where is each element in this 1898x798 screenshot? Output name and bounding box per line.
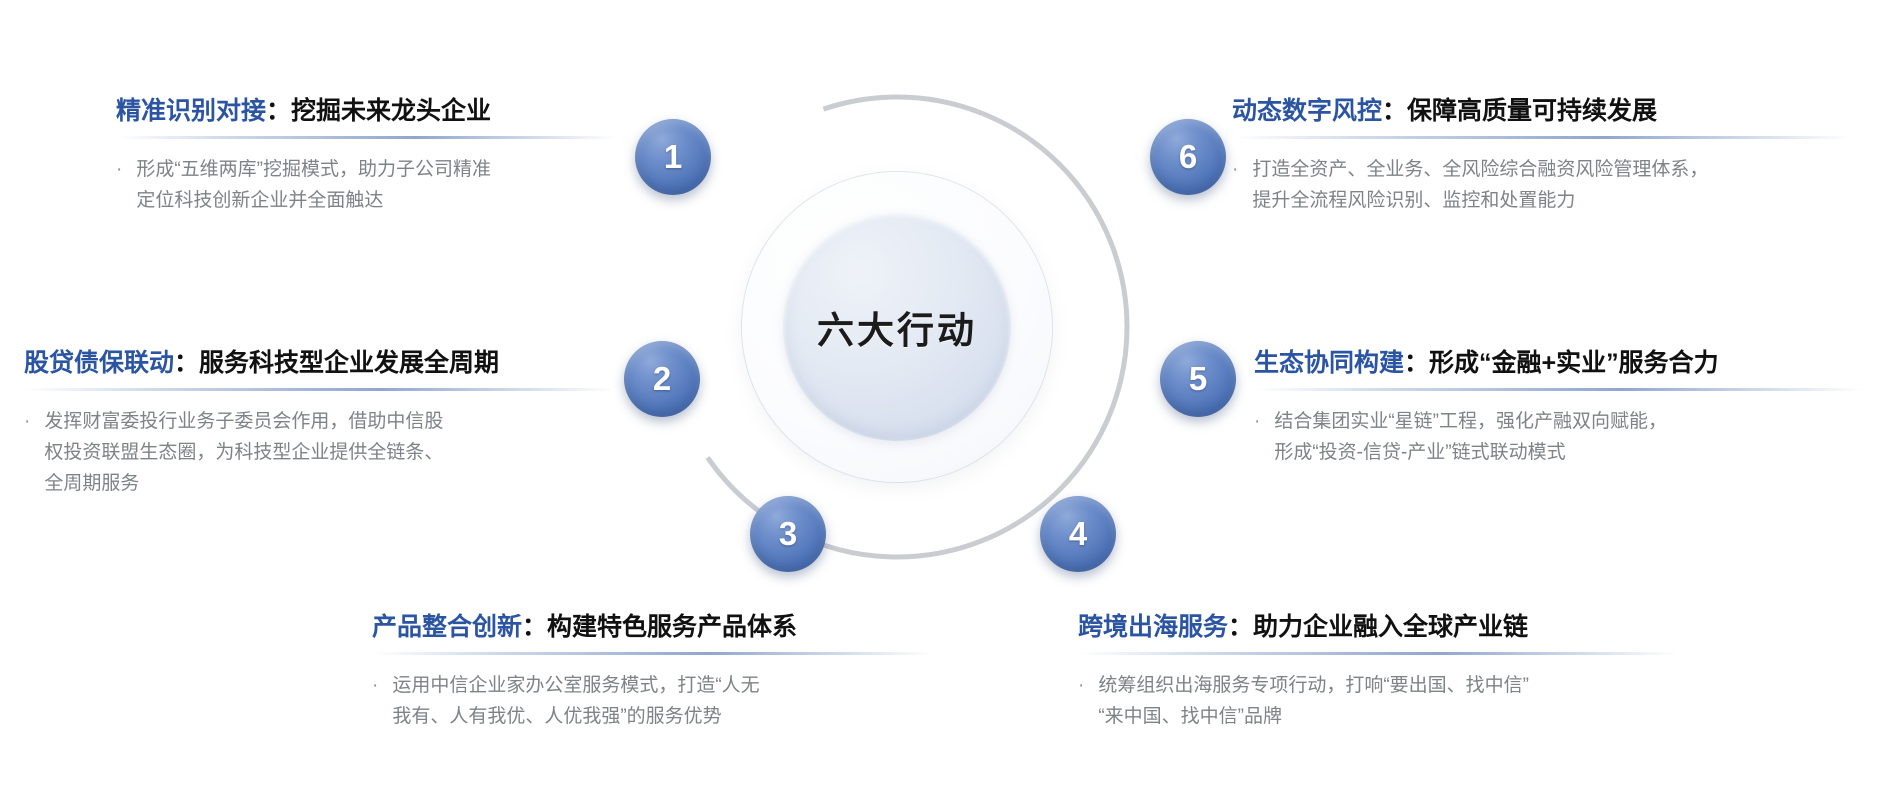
item-5-body: · 结合集团实业“星链”工程，强化产融双向赋能， 形成“投资-信贷-产业”链式联… [1254, 407, 1864, 469]
item-6-title-accent: 动态数字风控 [1232, 97, 1382, 125]
item-4-title: 跨境出海服务：助力企业融入全球产业链 [1078, 612, 1678, 643]
item-4-bullet-icon: · [1078, 671, 1084, 733]
item-1-title: 精准识别对接：挖掘未来龙头企业 [116, 96, 616, 127]
item-4-block: 跨境出海服务：助力企业融入全球产业链 · 统筹组织出海服务专项行动，打响“要出国… [1078, 612, 1678, 733]
item-6-divider [1232, 136, 1852, 139]
item-2-bullet-icon: · [24, 407, 30, 499]
node-1-number: 1 [664, 138, 682, 176]
node-4-number: 4 [1069, 515, 1087, 553]
item-1-divider [116, 136, 616, 139]
item-3-block: 产品整合创新：构建特色服务产品体系 · 运用中信企业家办公室服务模式，打造“人无… [372, 612, 932, 733]
node-6[interactable]: 6 [1150, 119, 1226, 195]
item-5-title: 生态协同构建：形成“金融+实业”服务合力 [1254, 348, 1864, 379]
item-6-bullet-icon: · [1232, 155, 1238, 217]
item-1-body-text: 形成“五维两库”挖掘模式，助力子公司精准 定位科技创新企业并全面触达 [136, 155, 491, 217]
item-3-divider [372, 652, 932, 655]
item-3-bullet-icon: · [372, 671, 378, 733]
item-6-body: · 打造全资产、全业务、全风险综合融资风险管理体系， 提升全流程风险识别、监控和… [1232, 155, 1852, 217]
item-2-divider [24, 388, 616, 391]
item-2-title-accent: 股贷债保联动 [24, 349, 174, 377]
item-5-divider [1254, 388, 1864, 391]
node-3-number: 3 [779, 515, 797, 553]
item-1-block: 精准识别对接：挖掘未来龙头企业 · 形成“五维两库”挖掘模式，助力子公司精准 定… [116, 96, 616, 217]
infographic-canvas: 六大行动 1 2 3 4 5 6 精准识别对接：挖掘未来龙头企业 · 形成“五维… [0, 0, 1898, 798]
item-2-body-text: 发挥财富委投行业务子委员会作用，借助中信股 权投资联盟生态圈，为科技型企业提供全… [44, 407, 443, 499]
item-4-body: · 统筹组织出海服务专项行动，打响“要出国、找中信” “来中国、找中信”品牌 [1078, 671, 1678, 733]
item-5-title-accent: 生态协同构建 [1254, 349, 1404, 377]
item-3-title-accent: 产品整合创新 [372, 613, 522, 641]
item-5-bullet-icon: · [1254, 407, 1260, 469]
item-2-block: 股贷债保联动：服务科技型企业发展全周期 · 发挥财富委投行业务子委员会作用，借助… [24, 348, 616, 500]
item-6-title-rest: ：保障高质量可持续发展 [1382, 97, 1657, 125]
item-3-title: 产品整合创新：构建特色服务产品体系 [372, 612, 932, 643]
item-1-title-rest: ：挖掘未来龙头企业 [266, 97, 491, 125]
node-5-number: 5 [1189, 360, 1207, 398]
item-6-title: 动态数字风控：保障高质量可持续发展 [1232, 96, 1852, 127]
item-5-block: 生态协同构建：形成“金融+实业”服务合力 · 结合集团实业“星链”工程，强化产融… [1254, 348, 1864, 469]
item-4-title-rest: ：助力企业融入全球产业链 [1228, 613, 1528, 641]
node-4[interactable]: 4 [1040, 496, 1116, 572]
item-2-body: · 发挥财富委投行业务子委员会作用，借助中信股 权投资联盟生态圈，为科技型企业提… [24, 407, 616, 499]
hub-center-disc: 六大行动 [783, 213, 1011, 441]
item-1-body: · 形成“五维两库”挖掘模式，助力子公司精准 定位科技创新企业并全面触达 [116, 155, 616, 217]
node-6-number: 6 [1179, 138, 1197, 176]
item-6-block: 动态数字风控：保障高质量可持续发展 · 打造全资产、全业务、全风险综合融资风险管… [1232, 96, 1852, 217]
item-3-body: · 运用中信企业家办公室服务模式，打造“人无 我有、人有我优、人优我强”的服务优… [372, 671, 932, 733]
node-5[interactable]: 5 [1160, 341, 1236, 417]
node-2-number: 2 [653, 360, 671, 398]
item-4-divider [1078, 652, 1678, 655]
item-3-body-text: 运用中信企业家办公室服务模式，打造“人无 我有、人有我优、人优我强”的服务优势 [392, 671, 759, 733]
node-1[interactable]: 1 [635, 119, 711, 195]
item-5-title-rest: ：形成“金融+实业”服务合力 [1404, 349, 1719, 377]
item-3-title-rest: ：构建特色服务产品体系 [522, 613, 797, 641]
hub-label: 六大行动 [817, 300, 977, 354]
item-1-bullet-icon: · [116, 155, 122, 217]
item-2-title-rest: ：服务科技型企业发展全周期 [174, 349, 499, 377]
item-1-title-accent: 精准识别对接 [116, 97, 266, 125]
node-3[interactable]: 3 [750, 496, 826, 572]
item-4-body-text: 统筹组织出海服务专项行动，打响“要出国、找中信” “来中国、找中信”品牌 [1098, 671, 1529, 733]
item-4-title-accent: 跨境出海服务 [1078, 613, 1228, 641]
node-2[interactable]: 2 [624, 341, 700, 417]
item-5-body-text: 结合集团实业“星链”工程，强化产融双向赋能， 形成“投资-信贷-产业”链式联动模… [1274, 407, 1667, 469]
item-2-title: 股贷债保联动：服务科技型企业发展全周期 [24, 348, 616, 379]
item-6-body-text: 打造全资产、全业务、全风险综合融资风险管理体系， 提升全流程风险识别、监控和处置… [1252, 155, 1708, 217]
